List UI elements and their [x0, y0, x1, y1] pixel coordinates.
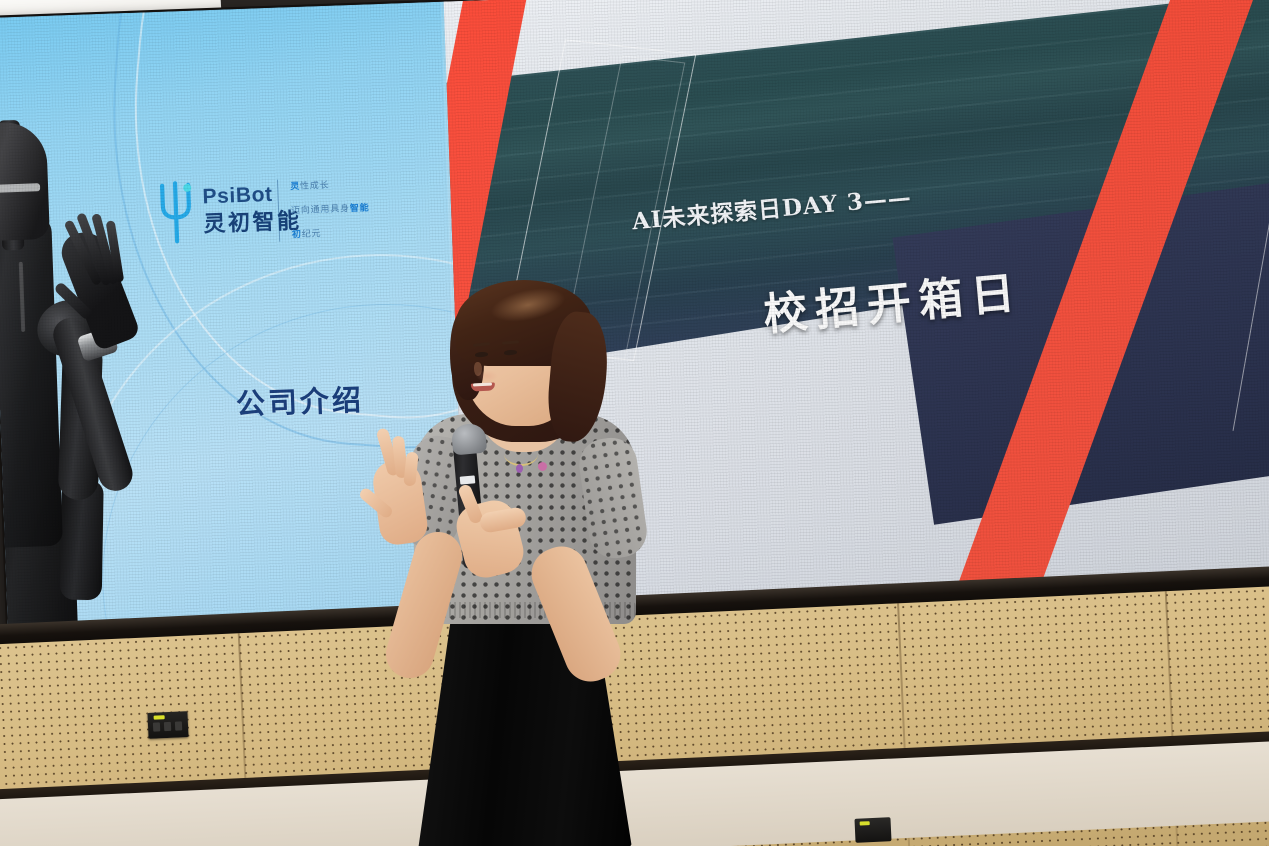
power-outlet[interactable] — [147, 711, 188, 739]
psi-trident-logo-icon — [158, 179, 194, 246]
humanoid-robot-graphic: ▪▪▪▪▪▪ — [0, 107, 182, 634]
presenter-cheek — [476, 370, 498, 382]
robot-torso — [0, 216, 63, 549]
outlet-port[interactable] — [164, 722, 171, 731]
brand-name-en: PsiBot — [202, 183, 301, 207]
screenshot-root: ▪▪▪▪▪▪ PsiBot 灵初智能 灵性成长 迈向通用具身智能 — [0, 0, 1269, 846]
outlet-indicator-icon — [154, 715, 165, 719]
outlet-port[interactable] — [153, 722, 160, 731]
presenter-lapel-pin — [538, 462, 547, 471]
presenter — [352, 286, 682, 846]
robot-head — [0, 121, 50, 242]
brand-name-cn: 灵初智能 — [203, 211, 302, 236]
brand-lockup: PsiBot 灵初智能 — [158, 175, 302, 246]
presenter-pendant — [516, 464, 523, 473]
presenter-necklace — [504, 442, 538, 466]
slide-left-title: 公司介绍 — [235, 377, 364, 424]
tagline-line-1: 灵性成长 — [290, 176, 369, 192]
brand-tagline: 灵性成长 迈向通用具身智能 初纪元 — [290, 176, 371, 240]
power-outlet-secondary[interactable] — [854, 817, 891, 843]
brand-text: PsiBot 灵初智能 — [202, 183, 302, 236]
outlet-port[interactable] — [175, 721, 182, 730]
outlet-indicator-icon — [860, 821, 870, 825]
microphone-label-band — [460, 475, 476, 484]
tagline-line-2: 迈向通用具身智能 — [291, 200, 370, 216]
